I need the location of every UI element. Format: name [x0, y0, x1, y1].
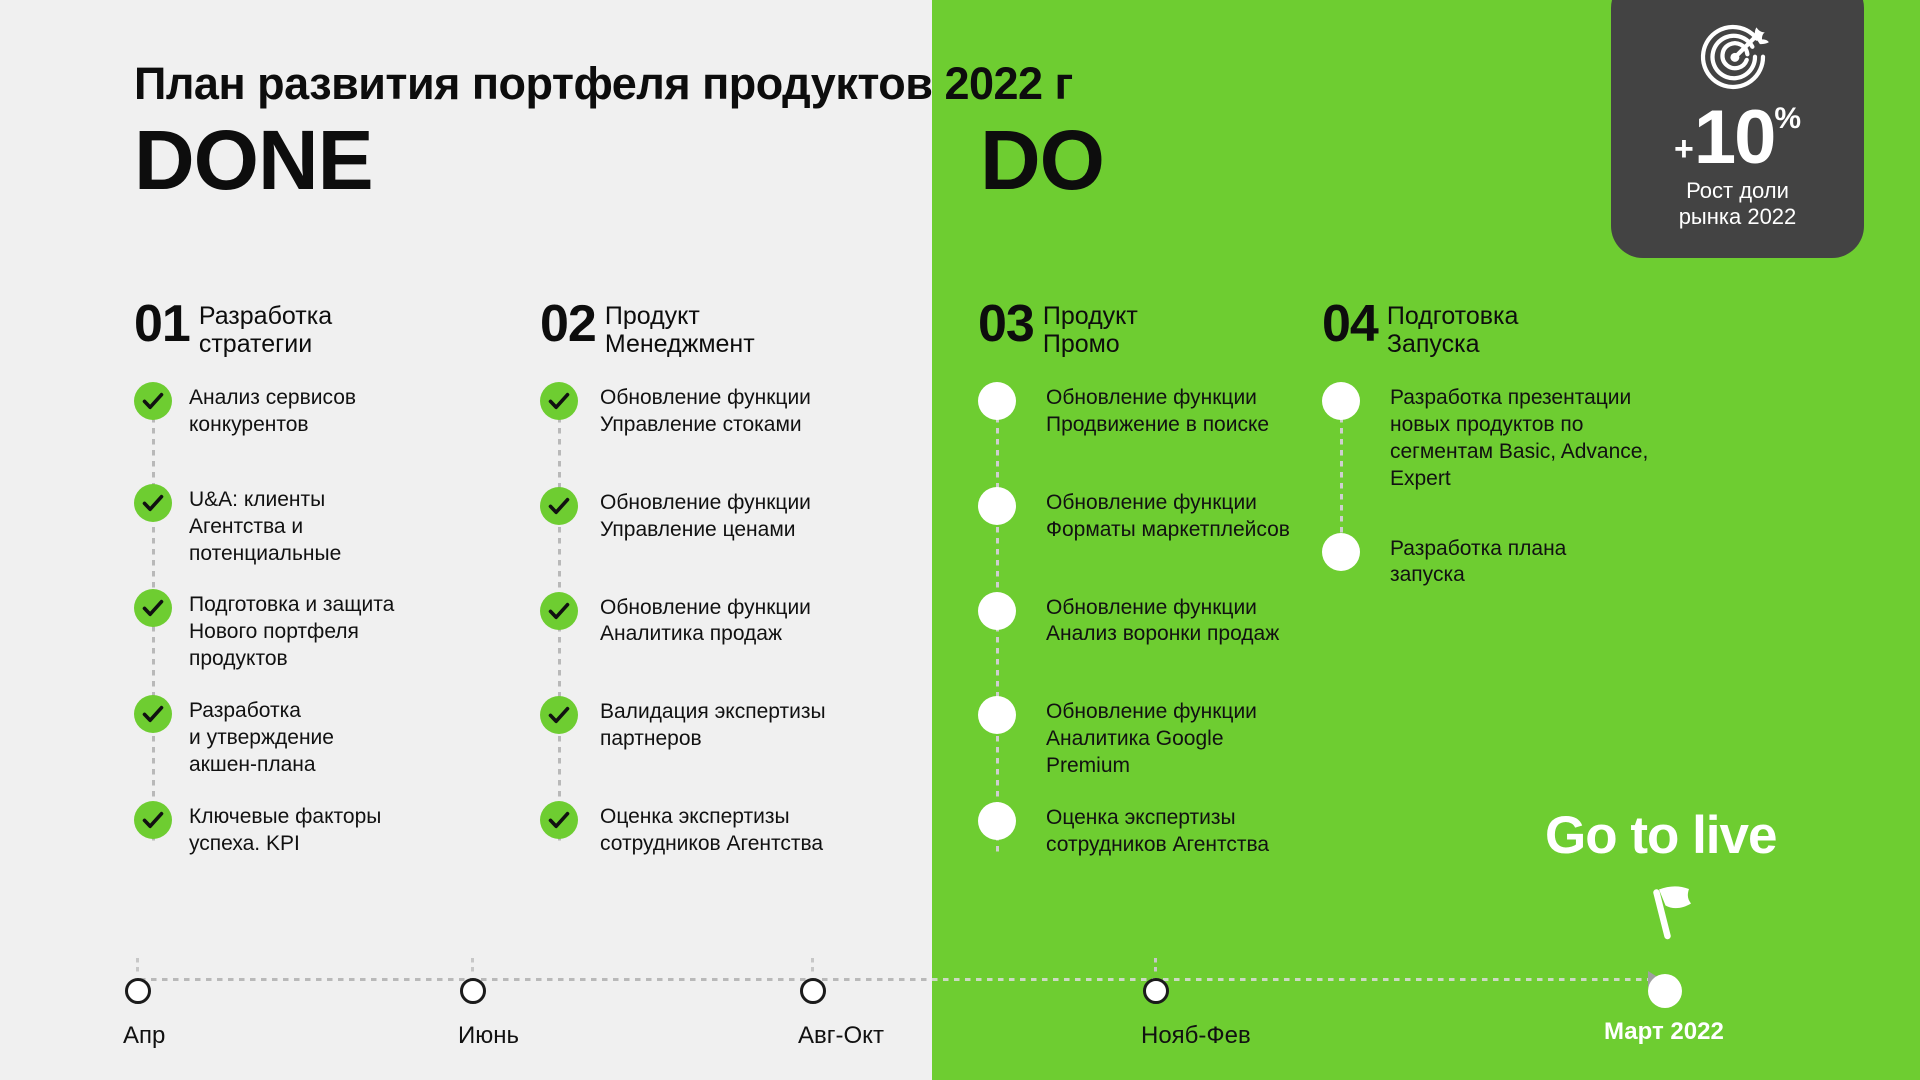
- list-item: Разработка плана запуска: [1322, 533, 1672, 590]
- timeline-node-2[interactable]: Июнь: [460, 978, 486, 1004]
- list-item-label: Подготовка и защита Нового портфеля прод…: [189, 589, 394, 673]
- column-02-number: 02: [540, 300, 596, 349]
- timeline-stub: [811, 958, 814, 976]
- timeline-node-4[interactable]: Нояб-Фев: [1143, 978, 1169, 1004]
- do-section-label: DO: [980, 118, 1104, 202]
- list-item-label: Обновление функции Форматы маркетплейсов: [1046, 487, 1290, 544]
- check-icon: [540, 487, 578, 525]
- column-01-items: Анализ сервисов конкурентов U&A: клиенты…: [134, 382, 434, 857]
- timeline-label: Нояб-Фев: [1141, 1022, 1251, 1050]
- timeline-label: Март 2022: [1604, 1018, 1724, 1046]
- list-item-label: Обновление функции Аналитика Google Prem…: [1046, 696, 1257, 780]
- circle-marker-icon: [978, 696, 1016, 734]
- list-item-label: Обновление функции Управление стоками: [600, 382, 811, 439]
- timeline-label: Апр: [123, 1022, 165, 1050]
- page-title: План развития портфеля продуктов 2022 г: [134, 58, 1073, 110]
- list-item-label: Разработка плана запуска: [1390, 533, 1566, 590]
- flag-icon: [1636, 873, 1722, 959]
- list-item: Обновление функции Анализ воронки продаж: [978, 592, 1318, 649]
- list-item: Обновление функции Управление стоками: [540, 382, 860, 439]
- column-03-number: 03: [978, 300, 1034, 349]
- check-icon: [134, 801, 172, 839]
- column-02-header: 02 Продукт Менеджмент: [540, 300, 860, 358]
- list-item-label: Оценка экспертизы сотрудников Агентства: [1046, 802, 1269, 859]
- column-03-items: Обновление функции Продвижение в поиске …: [978, 382, 1318, 859]
- column-04-connector: [1340, 406, 1343, 546]
- timeline-label: Июнь: [458, 1022, 519, 1050]
- list-item-label: Анализ сервисов конкурентов: [189, 382, 356, 439]
- go-to-live-label: Go to live: [1545, 805, 1776, 866]
- infographic-canvas: План развития портфеля продуктов 2022 г …: [0, 0, 1920, 1080]
- badge-caption-line-2: рынка 2022: [1679, 204, 1797, 230]
- list-item: Оценка экспертизы сотрудников Агентства: [978, 802, 1318, 859]
- done-section-label: DONE: [134, 118, 373, 202]
- percent-sign: %: [1774, 104, 1801, 134]
- column-02-title: Продукт Менеджмент: [605, 300, 755, 358]
- check-icon: [540, 696, 578, 734]
- list-item: Обновление функции Продвижение в поиске: [978, 382, 1318, 439]
- column-01-number: 01: [134, 300, 190, 349]
- growth-value: + 10 %: [1674, 100, 1801, 176]
- column-03-header: 03 Продукт Промо: [978, 300, 1318, 358]
- column-04: 04 Подготовка Запуска Разработка презент…: [1322, 300, 1672, 589]
- timeline-node-3[interactable]: Авг-Окт: [800, 978, 826, 1004]
- column-01-header: 01 Разработка стратегии: [134, 300, 434, 358]
- list-item-label: Валидация экспертизы партнеров: [600, 696, 826, 753]
- timeline-node-5[interactable]: Март 2022: [1648, 974, 1682, 1008]
- timeline-dot: [1648, 974, 1682, 1008]
- timeline-dot: [1143, 978, 1169, 1004]
- list-item: U&A: клиенты Агентства и потенциальные: [134, 484, 434, 568]
- timeline-label: Авг-Окт: [798, 1022, 884, 1050]
- list-item: Разработка презентации новых продуктов п…: [1322, 382, 1672, 493]
- plus-sign: +: [1674, 132, 1694, 166]
- timeline-dot: [125, 978, 151, 1004]
- column-01-title: Разработка стратегии: [199, 300, 332, 358]
- circle-marker-icon: [1322, 382, 1360, 420]
- column-04-number: 04: [1322, 300, 1378, 349]
- check-icon: [134, 589, 172, 627]
- circle-marker-icon: [978, 487, 1016, 525]
- list-item: Валидация экспертизы партнеров: [540, 696, 860, 753]
- list-item-label: Обновление функции Продвижение в поиске: [1046, 382, 1269, 439]
- list-item: Ключевые факторы успеха. KPI: [134, 801, 434, 858]
- timeline-dot: [460, 978, 486, 1004]
- list-item-label: Разработка презентации новых продуктов п…: [1390, 382, 1648, 493]
- timeline-node-1[interactable]: Апр: [125, 978, 151, 1004]
- check-icon: [540, 382, 578, 420]
- check-icon: [134, 695, 172, 733]
- column-02: 02 Продукт Менеджмент Обновление функции…: [540, 300, 860, 858]
- circle-marker-icon: [978, 592, 1016, 630]
- check-icon: [540, 801, 578, 839]
- list-item: Оценка экспертизы сотрудников Агентства: [540, 801, 860, 858]
- column-03-title: Продукт Промо: [1043, 300, 1138, 358]
- column-04-items: Разработка презентации новых продуктов п…: [1322, 382, 1672, 589]
- list-item: Подготовка и защита Нового портфеля прод…: [134, 589, 434, 673]
- market-share-badge: + 10 % Рост доли рынка 2022: [1611, 0, 1864, 258]
- column-03: 03 Продукт Промо Обновление функции Прод…: [978, 300, 1318, 859]
- list-item-label: U&A: клиенты Агентства и потенциальные: [189, 484, 341, 568]
- column-03-connector: [996, 406, 999, 856]
- badge-caption: Рост доли рынка 2022: [1679, 178, 1797, 230]
- list-item-label: Ключевые факторы успеха. KPI: [189, 801, 381, 858]
- column-02-items: Обновление функции Управление стоками Об…: [540, 382, 860, 858]
- timeline-stub: [1154, 958, 1157, 976]
- list-item: Обновление функции Аналитика продаж: [540, 592, 860, 649]
- column-04-title: Подготовка Запуска: [1387, 300, 1519, 358]
- list-item-label: Обновление функции Управление ценами: [600, 487, 811, 544]
- timeline-stub: [471, 958, 474, 976]
- circle-marker-icon: [978, 382, 1016, 420]
- column-01: 01 Разработка стратегии Анализ сервисов …: [134, 300, 434, 857]
- list-item: Обновление функции Управление ценами: [540, 487, 860, 544]
- list-item-label: Обновление функции Анализ воронки продаж: [1046, 592, 1279, 649]
- check-icon: [134, 484, 172, 522]
- circle-marker-icon: [978, 802, 1016, 840]
- growth-number: 10: [1694, 100, 1775, 176]
- circle-marker-icon: [1322, 533, 1360, 571]
- badge-caption-line-1: Рост доли: [1679, 178, 1797, 204]
- check-icon: [540, 592, 578, 630]
- list-item: Анализ сервисов конкурентов: [134, 382, 434, 439]
- check-icon: [134, 382, 172, 420]
- list-item-label: Разработка и утверждение акшен-плана: [189, 695, 334, 779]
- list-item: Обновление функции Аналитика Google Prem…: [978, 696, 1318, 780]
- column-04-header: 04 Подготовка Запуска: [1322, 300, 1672, 358]
- timeline-track-right: [932, 978, 1660, 981]
- list-item: Обновление функции Форматы маркетплейсов: [978, 487, 1318, 544]
- timeline-dot: [800, 978, 826, 1004]
- list-item-label: Обновление функции Аналитика продаж: [600, 592, 811, 649]
- list-item-label: Оценка экспертизы сотрудников Агентства: [600, 801, 823, 858]
- list-item: Разработка и утверждение акшен-плана: [134, 695, 434, 779]
- target-arrow-icon: [1698, 18, 1778, 98]
- timeline-stub: [136, 958, 139, 976]
